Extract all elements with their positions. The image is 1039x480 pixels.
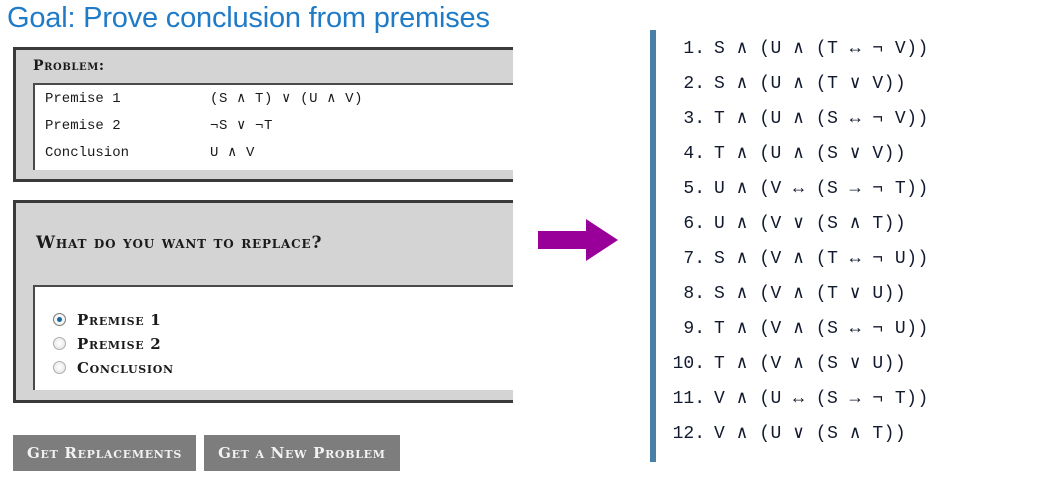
radio-option-premise-1[interactable]: Premise 1 <box>53 309 513 330</box>
list-item[interactable]: 8. S ∧ (V ∧ (T ∨ U)) <box>656 282 1039 317</box>
list-item[interactable]: 5. U ∧ (V ↔ (S → ¬ T)) <box>656 177 1039 212</box>
list-item-number: 10. <box>656 354 714 374</box>
list-item-formula: T ∧ (U ∧ (S ↔ ¬ V)) <box>714 107 929 129</box>
left-column: Problem: Premise 1 (S ∧ T) ∨ (U ∧ V) Pre… <box>0 0 510 480</box>
problem-row-formula: ¬S ∨ ¬T <box>210 117 273 134</box>
list-item-formula: S ∧ (U ∧ (T ∨ V)) <box>714 72 906 94</box>
replace-options-group: Premise 1 Premise 2 Conclusion <box>33 285 513 390</box>
problem-row-label: Premise 2 <box>35 118 210 134</box>
list-item[interactable]: 6. U ∧ (V ∨ (S ∧ T)) <box>656 212 1039 247</box>
list-item-formula: U ∧ (V ↔ (S → ¬ T)) <box>714 177 929 199</box>
list-item[interactable]: 12. V ∧ (U ∨ (S ∧ T)) <box>656 422 1039 457</box>
list-item-number: 1. <box>656 39 714 59</box>
problem-row-premise-2: Premise 2 ¬S ∨ ¬T <box>35 117 513 144</box>
radio-option-label: Conclusion <box>77 359 174 377</box>
list-item-formula: S ∧ (U ∧ (T ↔ ¬ V)) <box>714 37 929 59</box>
results-list: 1. S ∧ (U ∧ (T ↔ ¬ V)) 2. S ∧ (U ∧ (T ∨ … <box>656 37 1039 457</box>
list-item-formula: V ∧ (U ∨ (S ∧ T)) <box>714 422 906 444</box>
radio-button-icon[interactable] <box>53 361 66 374</box>
problem-row-premise-1: Premise 1 (S ∧ T) ∨ (U ∧ V) <box>35 90 513 117</box>
problem-table: Premise 1 (S ∧ T) ∨ (U ∧ V) Premise 2 ¬S… <box>33 83 513 170</box>
list-item[interactable]: 10. T ∧ (V ∧ (S ∨ U)) <box>656 352 1039 387</box>
radio-option-premise-2[interactable]: Premise 2 <box>53 333 513 354</box>
problem-row-conclusion: Conclusion U ∧ V <box>35 144 513 171</box>
list-item-number: 3. <box>656 109 714 129</box>
problem-row-label: Conclusion <box>35 145 210 161</box>
list-item-formula: U ∧ (V ∨ (S ∧ T)) <box>714 212 906 234</box>
list-item[interactable]: 4. T ∧ (U ∧ (S ∨ V)) <box>656 142 1039 177</box>
list-item-formula: T ∧ (V ∧ (S ↔ ¬ U)) <box>714 317 929 339</box>
list-item[interactable]: 11. V ∧ (U ↔ (S → ¬ T)) <box>656 387 1039 422</box>
list-item-number: 12. <box>656 424 714 444</box>
list-item-formula: V ∧ (U ↔ (S → ¬ T)) <box>714 387 929 409</box>
radio-option-label: Premise 1 <box>77 311 161 329</box>
arrow-right-icon <box>538 219 618 261</box>
list-item-number: 8. <box>656 284 714 304</box>
list-item-number: 4. <box>656 144 714 164</box>
problem-row-formula: U ∧ V <box>210 144 255 161</box>
button-bar: Get Replacements Get a New Problem <box>13 435 400 471</box>
list-item-number: 7. <box>656 249 714 269</box>
get-new-problem-button[interactable]: Get a New Problem <box>204 435 400 471</box>
problem-row-label: Premise 1 <box>35 91 210 107</box>
list-item[interactable]: 7. S ∧ (V ∧ (T ↔ ¬ U)) <box>656 247 1039 282</box>
radio-option-label: Premise 2 <box>77 335 161 353</box>
radio-button-icon[interactable] <box>53 337 66 350</box>
list-item-number: 9. <box>656 319 714 339</box>
list-item[interactable]: 9. T ∧ (V ∧ (S ↔ ¬ U)) <box>656 317 1039 352</box>
list-item-formula: S ∧ (V ∧ (T ↔ ¬ U)) <box>714 247 929 269</box>
list-item[interactable]: 1. S ∧ (U ∧ (T ↔ ¬ V)) <box>656 37 1039 72</box>
get-replacements-button[interactable]: Get Replacements <box>13 435 196 471</box>
replace-panel: What do you want to replace? Premise 1 P… <box>13 200 513 403</box>
list-item-formula: T ∧ (V ∧ (S ∨ U)) <box>714 352 906 374</box>
problem-row-formula: (S ∧ T) ∨ (U ∧ V) <box>210 90 363 107</box>
list-item-number: 6. <box>656 214 714 234</box>
list-item[interactable]: 2. S ∧ (U ∧ (T ∨ V)) <box>656 72 1039 107</box>
replace-heading: What do you want to replace? <box>36 233 322 253</box>
list-item-formula: T ∧ (U ∧ (S ∨ V)) <box>714 142 906 164</box>
list-item[interactable]: 3. T ∧ (U ∧ (S ↔ ¬ V)) <box>656 107 1039 142</box>
list-item-number: 5. <box>656 179 714 199</box>
problem-panel: Problem: Premise 1 (S ∧ T) ∨ (U ∧ V) Pre… <box>13 47 513 182</box>
radio-option-conclusion[interactable]: Conclusion <box>53 357 513 378</box>
list-item-formula: S ∧ (V ∧ (T ∨ U)) <box>714 282 906 304</box>
list-item-number: 11. <box>656 389 714 409</box>
radio-button-icon[interactable] <box>53 313 66 326</box>
results-panel: 1. S ∧ (U ∧ (T ↔ ¬ V)) 2. S ∧ (U ∧ (T ∨ … <box>650 30 1039 462</box>
list-item-number: 2. <box>656 74 714 94</box>
problem-heading: Problem: <box>33 58 105 74</box>
